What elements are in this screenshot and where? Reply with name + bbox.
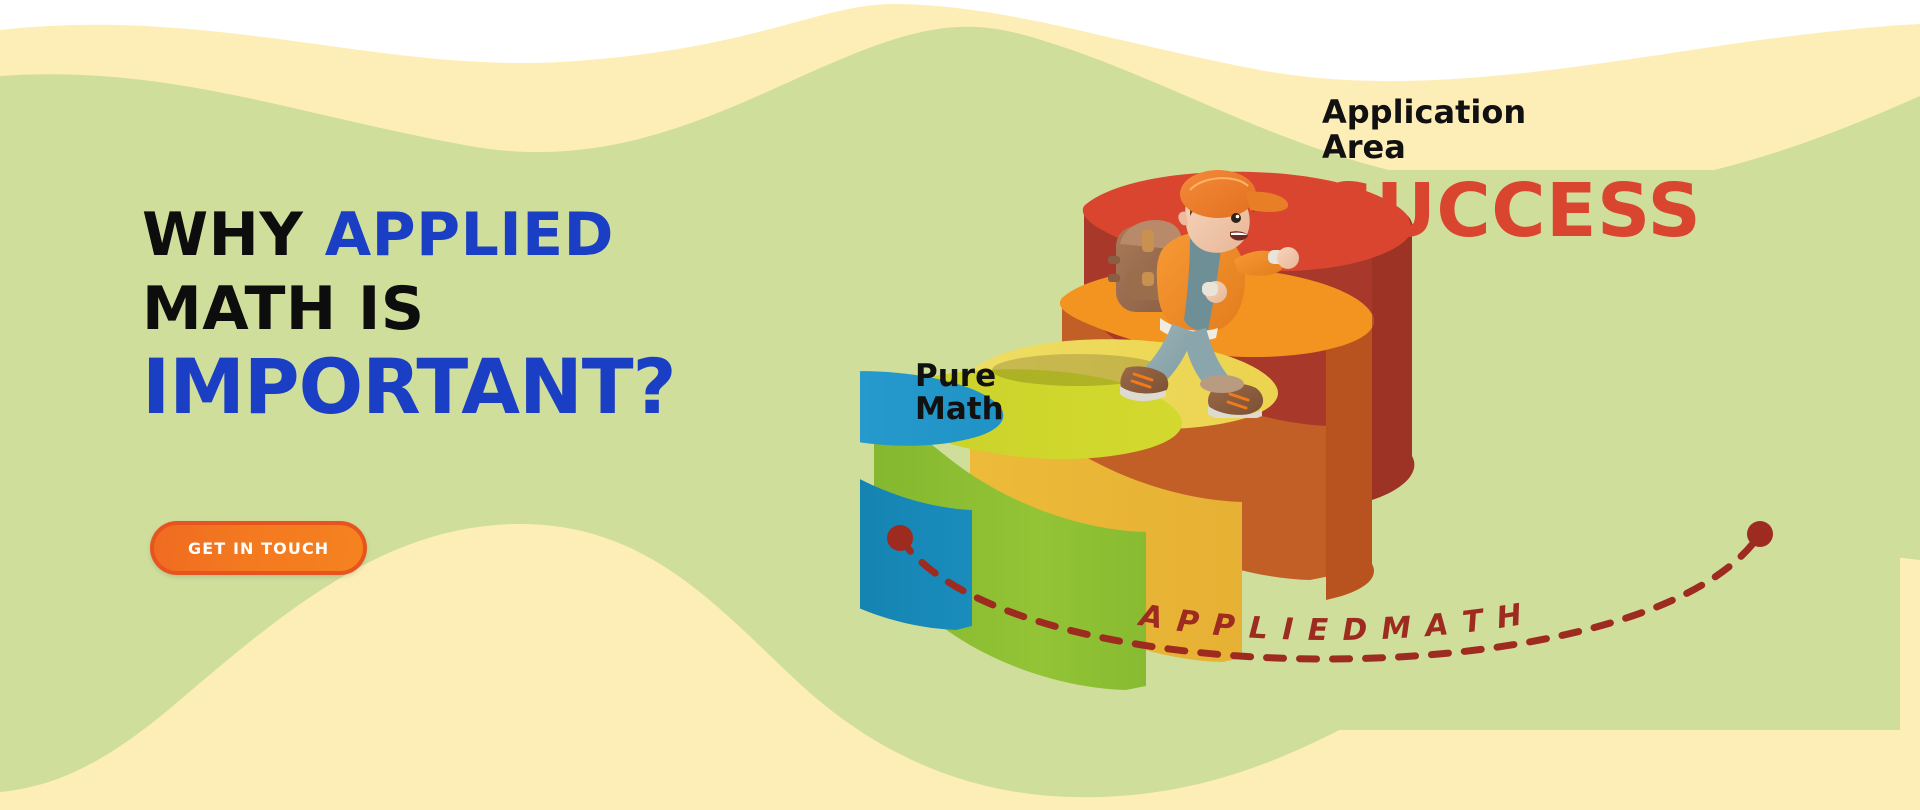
headline-line-1: WHY APPLIED — [142, 205, 902, 265]
headline-block: WHY APPLIED MATH IS IMPORTANT? — [142, 205, 902, 425]
get-in-touch-ring: GET IN TOUCH — [150, 521, 367, 575]
arc-endpoint-right — [1747, 521, 1773, 547]
headline-applied: APPLIED — [325, 200, 614, 270]
label-pure-math: Pure Math — [915, 360, 1004, 427]
cap — [1180, 170, 1256, 218]
headline-why: WHY — [142, 200, 325, 270]
applied-math-arc: A P P L I E D M A T H — [860, 520, 1800, 710]
arc-caption-text: A P P L I E D M A T H — [1135, 597, 1526, 648]
arm-front — [1234, 247, 1299, 276]
get-in-touch-button[interactable]: GET IN TOUCH — [154, 525, 363, 571]
headline-line-2: MATH IS — [142, 279, 902, 339]
cta-container: GET IN TOUCH — [150, 521, 367, 575]
arc-endpoint-left — [887, 525, 913, 551]
head — [1178, 170, 1288, 253]
hero-banner: WHY APPLIED MATH IS IMPORTANT? GET IN TO… — [0, 0, 1920, 810]
boots — [1120, 366, 1263, 418]
label-application-area: Application Area — [1322, 95, 1526, 165]
student-character-illustration — [1090, 168, 1320, 418]
headline-line-3: IMPORTANT? — [142, 349, 902, 425]
label-success: SUCCESS — [1322, 174, 1701, 248]
